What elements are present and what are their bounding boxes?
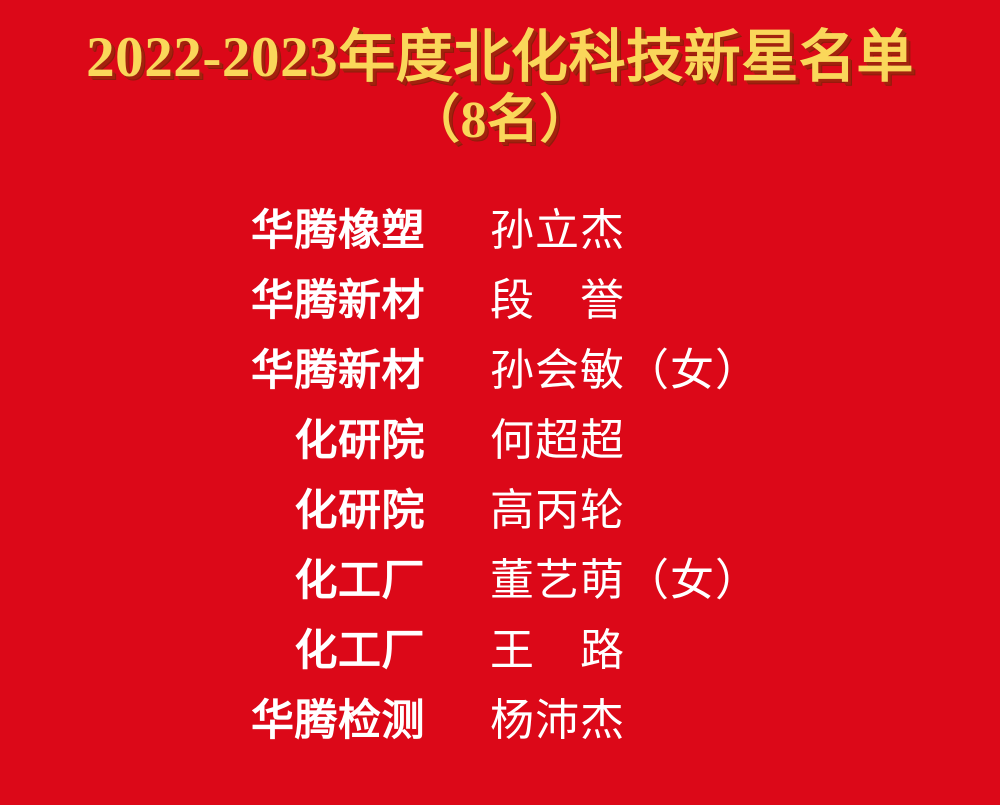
roster-row-person-name: 王 路 — [490, 616, 625, 686]
poster-title-line-2: （8名） — [0, 92, 1000, 150]
roster-row-person-name: 杨沛杰 — [490, 686, 625, 756]
roster-row: 化研院 何超超 — [0, 406, 1000, 476]
roster-row-person-name: 董艺萌（女） — [490, 546, 760, 616]
roster-row-organization: 华腾新材 — [0, 266, 425, 336]
roster-row: 化研院 高丙轮 — [0, 476, 1000, 546]
roster-row-organization: 化研院 — [0, 406, 425, 476]
roster-row: 华腾新材 段 誉 — [0, 266, 1000, 336]
awardee-roster: 华腾橡塑 孙立杰 华腾新材 段 誉 华腾新材 孙会敏（女） 化研院 何超超 化研… — [0, 196, 1000, 756]
roster-row-person-name: 段 誉 — [490, 266, 625, 336]
roster-row-person-name: 孙会敏（女） — [490, 336, 760, 406]
roster-row: 华腾检测 杨沛杰 — [0, 686, 1000, 756]
roster-row-organization: 化工厂 — [0, 616, 425, 686]
award-list-poster: 2022-2023年度北化科技新星名单 （8名） 华腾橡塑 孙立杰 华腾新材 段… — [0, 0, 1000, 805]
roster-row-person-name: 何超超 — [490, 406, 625, 476]
roster-row: 化工厂 王 路 — [0, 616, 1000, 686]
roster-row-organization: 化工厂 — [0, 546, 425, 616]
poster-title-block: 2022-2023年度北化科技新星名单 （8名） — [0, 26, 1000, 150]
roster-row-organization: 华腾检测 — [0, 686, 425, 756]
roster-row: 化工厂 董艺萌（女） — [0, 546, 1000, 616]
roster-row: 华腾橡塑 孙立杰 — [0, 196, 1000, 266]
roster-row-organization: 华腾橡塑 — [0, 196, 425, 266]
roster-row-organization: 华腾新材 — [0, 336, 425, 406]
roster-row-organization: 化研院 — [0, 476, 425, 546]
roster-row-person-name: 高丙轮 — [490, 476, 625, 546]
roster-row-person-name: 孙立杰 — [490, 196, 625, 266]
poster-title-line-1: 2022-2023年度北化科技新星名单 — [0, 26, 1000, 90]
roster-row: 华腾新材 孙会敏（女） — [0, 336, 1000, 406]
